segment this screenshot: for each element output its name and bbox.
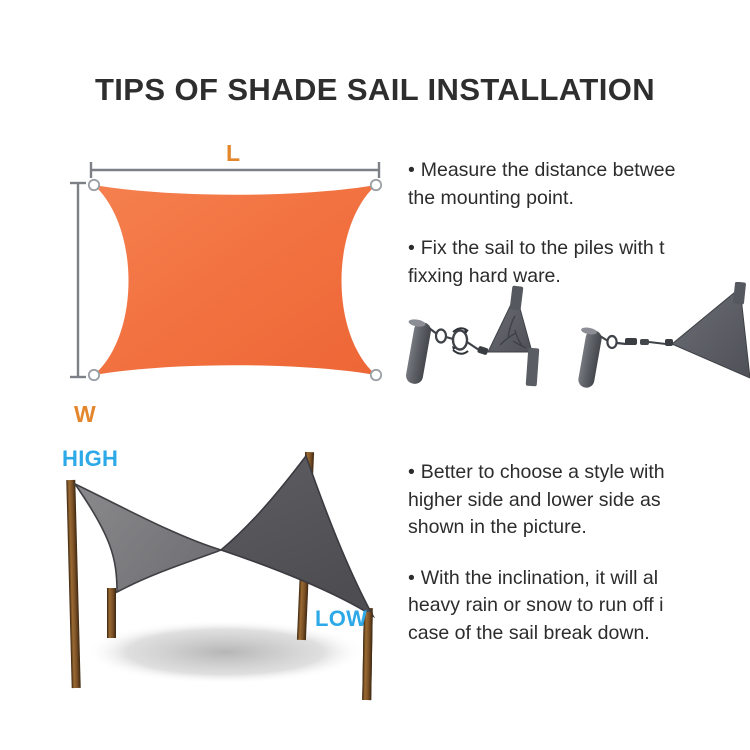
mounting-post [405,318,433,385]
width-dimension-line [70,183,86,377]
inclined-canopy-diagram: HIGH LOW [25,440,410,705]
width-label: W [74,403,96,426]
tip-line: heavy rain or snow to run off i [408,594,663,616]
fixing-hardware-illustrations [404,282,750,394]
sail-body [94,185,376,375]
bullet-icon: • [408,159,415,181]
tips-list-top: • Measure the distance betwee the mounti… [408,157,750,290]
tip-line: shown in the picture. [408,516,587,538]
tips-list-bottom: • Better to choose a style with higher s… [408,459,750,647]
high-side-label: HIGH [62,448,118,470]
corner-post [526,348,540,387]
hardware-assembly-right [577,282,750,389]
low-side-label: LOW [315,608,367,630]
tip-line: Better to choose a style with [421,461,665,483]
hardware-assembly-left [405,285,540,386]
tip-item: • Better to choose a style with higher s… [408,459,750,542]
tip-line: the mounting point. [408,187,574,209]
mounting-post [577,326,603,388]
sail-corner [488,294,532,352]
cable-connectors [625,338,673,346]
infographic-page: TIPS OF SHADE SAIL INSTALLATION [0,0,750,750]
support-post [66,480,80,688]
tip-item: • With the inclination, it will al heavy… [408,565,750,648]
carabiner-hardware [429,328,453,343]
bullet-icon: • [408,237,415,259]
tip-line: With the inclination, it will al [421,567,658,589]
length-label: L [226,142,240,165]
tip-line: Fix the sail to the piles with t [421,237,665,259]
bullet-icon: • [408,461,415,483]
canopy-sail-light [75,484,221,592]
rectangular-sail-diagram: L W [30,135,405,415]
support-post [107,590,116,638]
tip-line: case of the sail break down. [408,622,650,644]
tip-line: Measure the distance betwee [421,159,676,181]
tip-line: higher side and lower side as [408,489,661,511]
page-title: TIPS OF SHADE SAIL INSTALLATION [0,72,750,108]
turnbuckle-hardware [452,328,489,355]
corner-post [510,285,524,310]
corner-post [733,282,746,305]
snap-hook-hardware [600,336,626,348]
bullet-icon: • [408,567,415,589]
canopy-sail-dark [221,456,373,616]
tip-item: • Measure the distance betwee the mounti… [408,157,750,212]
